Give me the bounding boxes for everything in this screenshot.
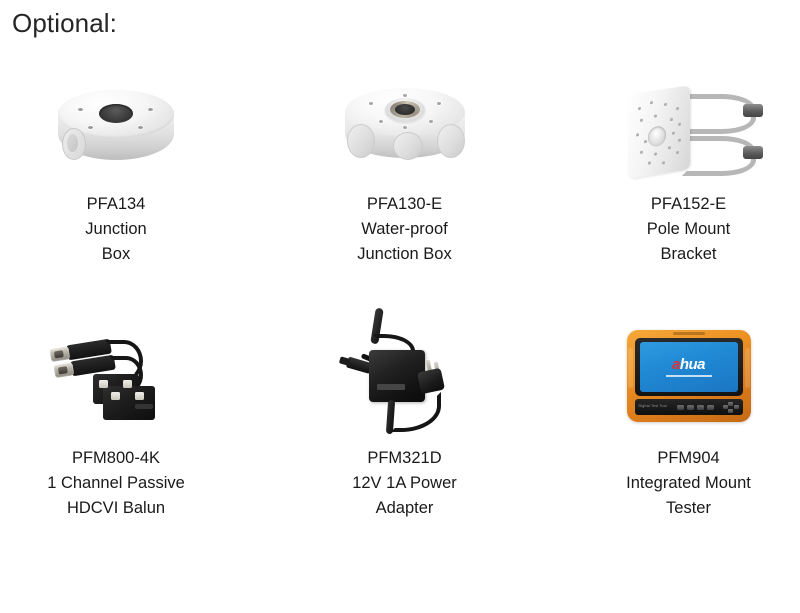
waterproof-junction-box-image [305, 62, 505, 192]
product-caption: PFA134 Junction Box [85, 192, 146, 267]
product-caption: PFA152-E Pole Mount Bracket [647, 192, 730, 267]
product-card-pfm800-4k[interactable]: PFM800-4K 1 Channel Passive HDCVI Balun [0, 296, 232, 596]
product-model: PFA152-E [647, 192, 730, 217]
product-desc-line-1: Junction [85, 217, 146, 242]
product-card-pfa152e[interactable]: PFA152-E Pole Mount Bracket [577, 62, 800, 296]
product-model: PFM800-4K [47, 446, 185, 471]
product-card-pfa134[interactable]: PFA134 Junction Box [0, 62, 232, 296]
optional-accessories-grid: PFA134 Junction Box [0, 62, 800, 596]
product-model: PFA130-E [357, 192, 451, 217]
product-desc-line-2: HDCVI Balun [47, 496, 185, 521]
product-desc-line-2: Bracket [647, 242, 730, 267]
product-desc-line-2: Box [85, 242, 146, 267]
mount-tester-image: ahua Digital Test Tool [589, 296, 789, 446]
junction-box-image [16, 62, 216, 192]
product-caption: PFM904 Integrated Mount Tester [626, 446, 751, 521]
product-desc-line-2: Junction Box [357, 242, 451, 267]
dahua-logo: ahua [640, 357, 738, 373]
panel-brand-text: Digital Test Tool [639, 404, 667, 408]
product-desc-line-2: Tester [626, 496, 751, 521]
product-card-pfa130e[interactable]: PFA130-E Water-proof Junction Box [232, 62, 577, 296]
product-desc-line-1: Water-proof [357, 217, 451, 242]
product-desc-line-1: Pole Mount [647, 217, 730, 242]
dahua-logo-rest: hua [680, 356, 705, 373]
product-row: PFA134 Junction Box [0, 62, 800, 296]
product-card-pfm321d[interactable]: PFM321D 12V 1A Power Adapter [232, 296, 577, 596]
product-caption: PFM800-4K 1 Channel Passive HDCVI Balun [47, 446, 185, 521]
page-title: Optional: [12, 6, 117, 40]
product-model: PFM904 [626, 446, 751, 471]
product-desc-line-1: 1 Channel Passive [47, 471, 185, 496]
product-desc-line-1: Integrated Mount [626, 471, 751, 496]
dahua-logo-accent: a [672, 356, 680, 373]
product-card-pfm904[interactable]: ahua Digital Test Tool [577, 296, 800, 596]
product-model: PFM321D [352, 446, 457, 471]
product-model: PFA134 [85, 192, 146, 217]
pole-mount-bracket-image [604, 62, 774, 192]
power-adapter-image [305, 296, 505, 446]
product-caption: PFM321D 12V 1A Power Adapter [352, 446, 457, 521]
product-desc-line-2: Adapter [352, 496, 457, 521]
product-caption: PFA130-E Water-proof Junction Box [357, 192, 451, 267]
product-row: PFM800-4K 1 Channel Passive HDCVI Balun [0, 296, 800, 596]
hdcvi-balun-image [16, 296, 216, 446]
product-desc-line-1: 12V 1A Power [352, 471, 457, 496]
